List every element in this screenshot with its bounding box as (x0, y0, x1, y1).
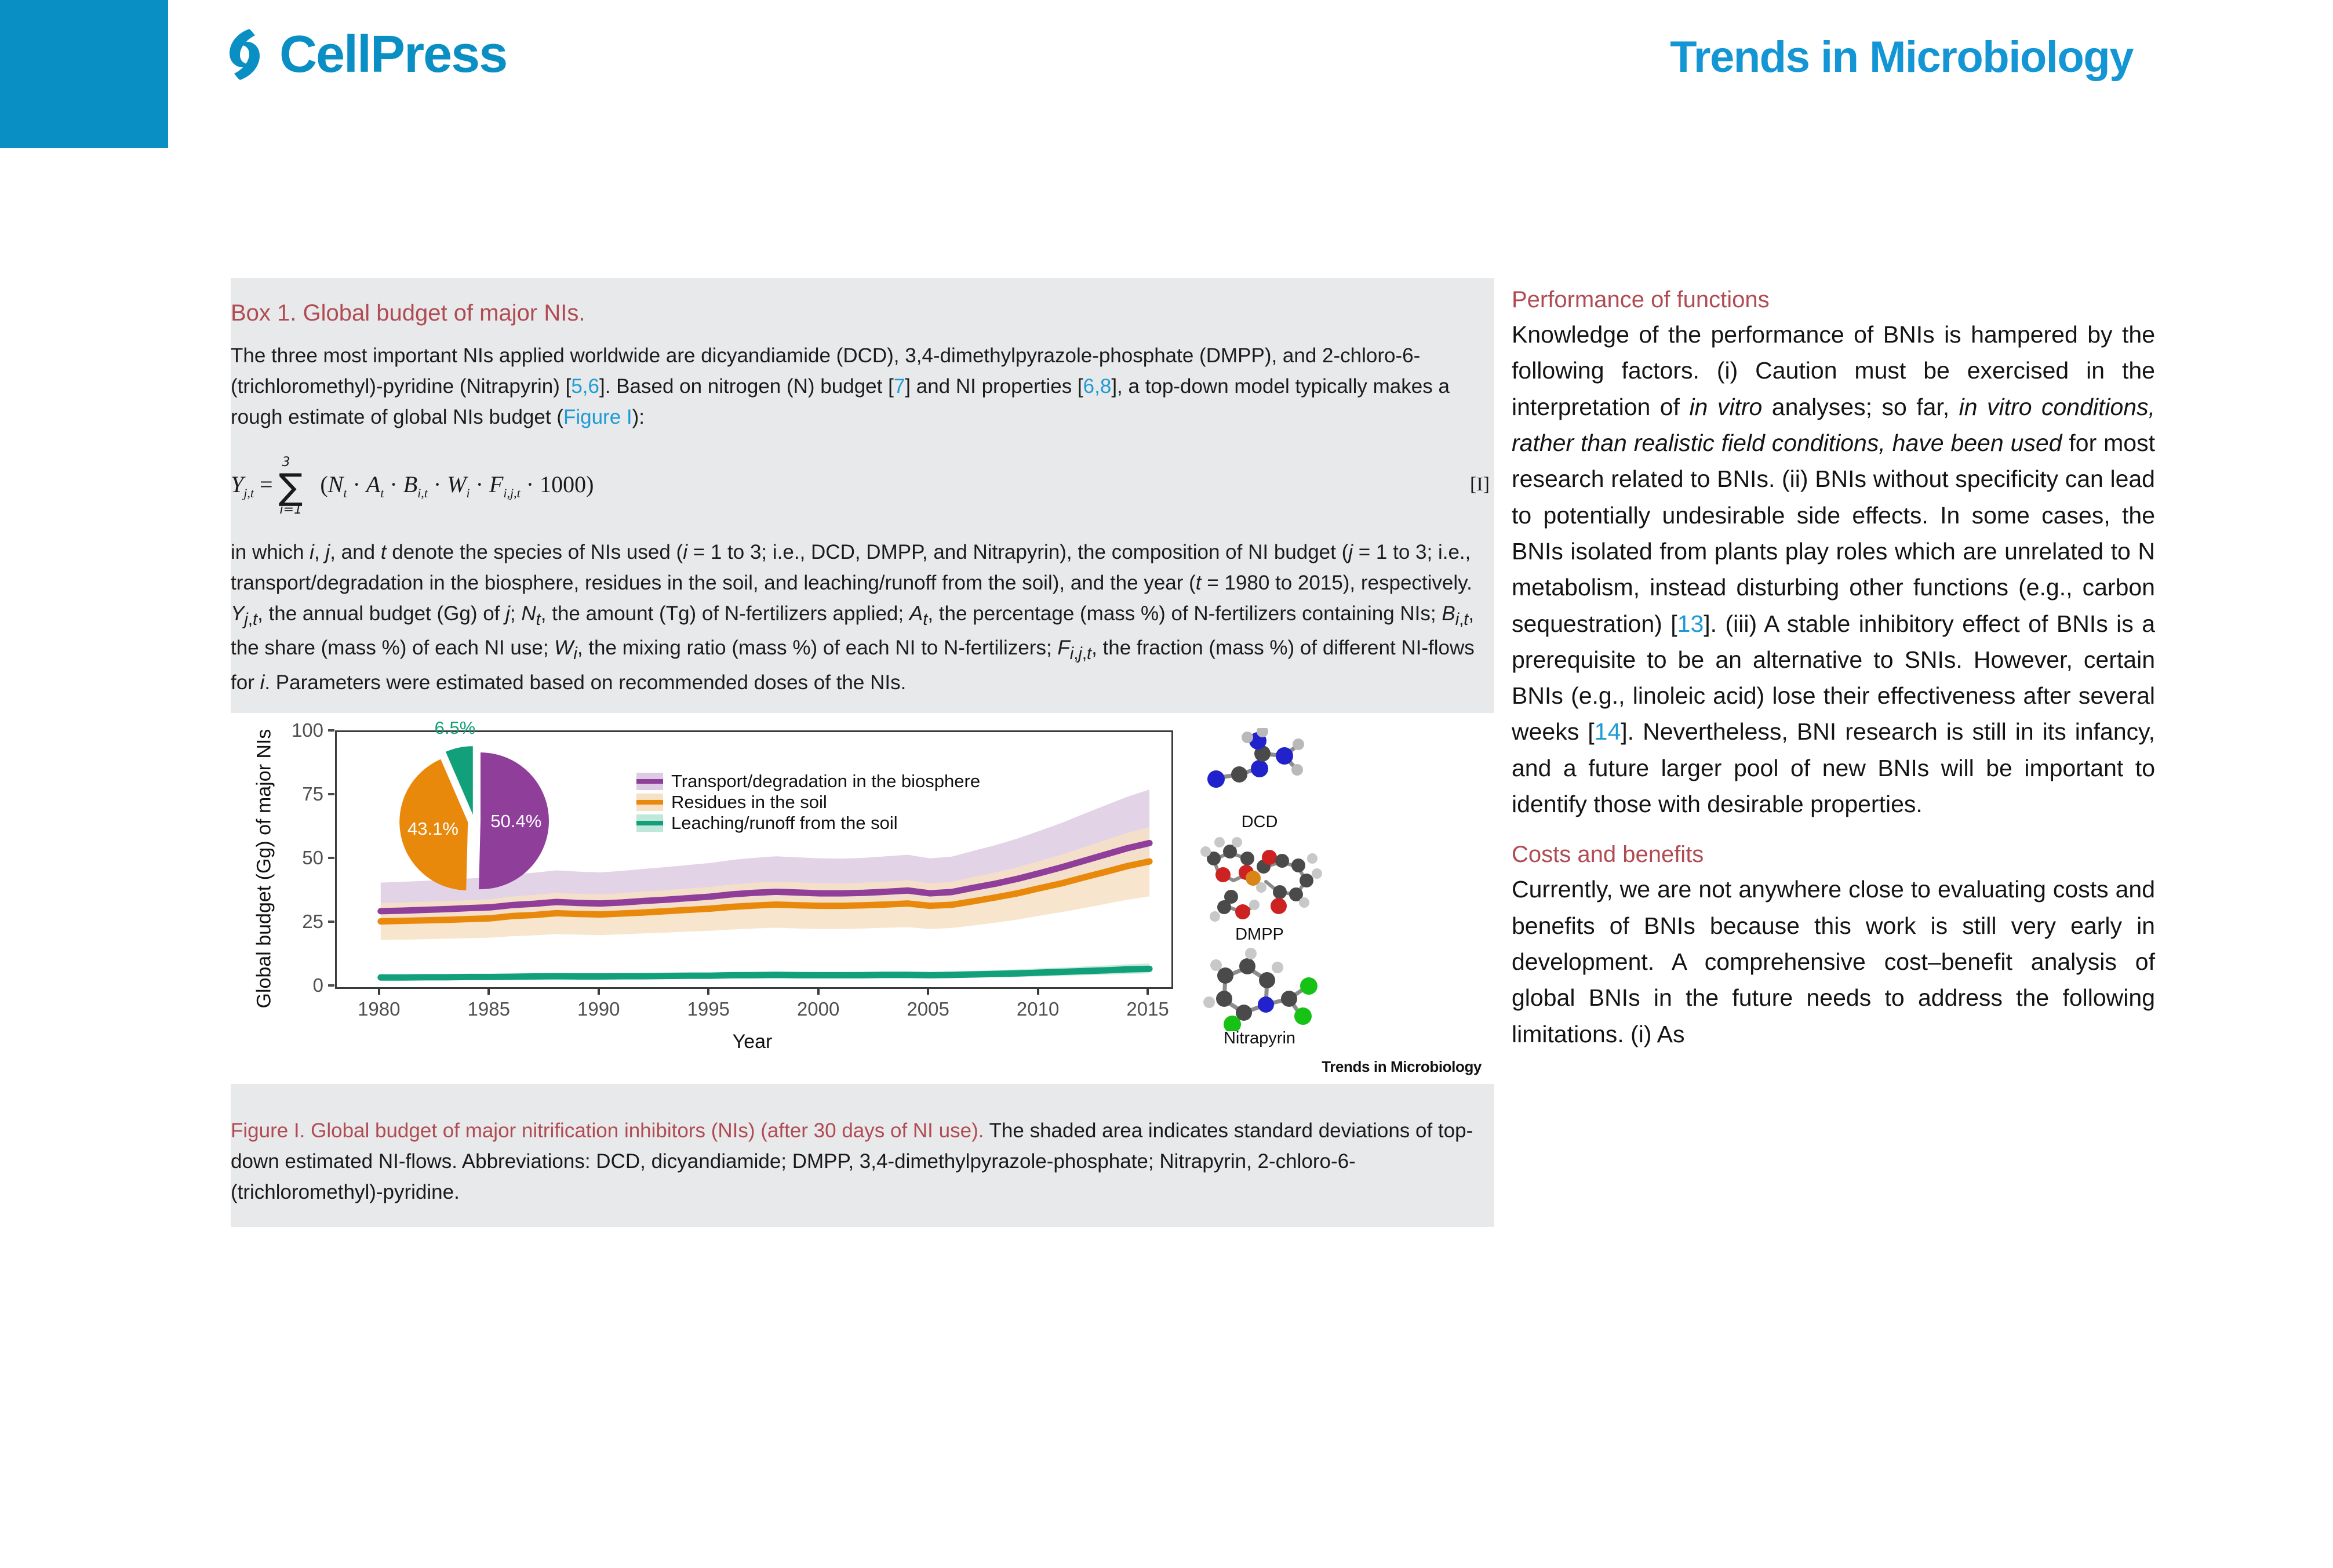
dmpp-molecule-icon (1193, 832, 1326, 927)
ref-13[interactable]: 13 (1677, 610, 1704, 637)
legend-label: Transport/degradation in the biosphere (671, 771, 980, 792)
molecule-label: DMPP (1193, 925, 1326, 944)
x-tick-mark (817, 987, 820, 995)
legend-item[interactable]: Transport/degradation in the biosphere (636, 771, 980, 792)
y-tick-label: 100 (260, 719, 323, 741)
legend-swatch (636, 794, 663, 811)
perf-italic-1: in vitro (1689, 394, 1762, 420)
section-title-costs: Costs and benefits (1512, 842, 2155, 868)
cellpress-logo[interactable]: CellPress (220, 28, 507, 81)
x-tick-label: 2010 (995, 998, 1082, 1020)
nitrapyrin-molecule-icon (1193, 944, 1326, 1031)
y-tick-label: 25 (260, 911, 323, 933)
cellpress-wordmark: CellPress (279, 28, 507, 81)
y-tick-label: 75 (260, 783, 323, 805)
molecule-nitrapyrin: Nitrapyrin (1193, 944, 1326, 1048)
legend-line (636, 821, 663, 825)
chart-legend: Transport/degradation in the biosphereRe… (636, 771, 980, 834)
molecule-gallery: DCD (1193, 728, 1326, 1048)
pie-slice-label: 50.4% (490, 811, 541, 832)
legend-label: Residues in the soil (671, 792, 827, 813)
legend-label: Leaching/runoff from the soil (671, 813, 898, 834)
x-tick-label: 1980 (336, 998, 423, 1020)
pie-slice-label: 6.5% (435, 718, 476, 738)
ref-14[interactable]: 14 (1595, 718, 1621, 745)
figure-credit: Trends in Microbiology (1322, 1058, 1482, 1076)
x-tick-label: 1995 (665, 998, 752, 1020)
equation-1: Yj,t = ∑3i=1 (Nt · At · Bi,t · Wi · Fi,j… (231, 465, 594, 508)
box-column: Box 1. Global budget of major NIs. The t… (231, 278, 1494, 1227)
legend-line (636, 779, 663, 784)
link-figure-i[interactable]: Figure I (563, 406, 632, 428)
legend-item[interactable]: Residues in the soil (636, 792, 980, 813)
section-title-performance: Performance of functions (1512, 287, 2155, 313)
x-tick-label: 1990 (555, 998, 642, 1020)
legend-item[interactable]: Leaching/runoff from the soil (636, 813, 980, 834)
x-tick-label: 2005 (885, 998, 971, 1020)
y-tick-label: 50 (260, 847, 323, 869)
y-tick-mark (328, 921, 334, 923)
x-tick-label: 1985 (445, 998, 532, 1020)
y-tick-mark (328, 793, 334, 795)
x-tick-label: 2015 (1104, 998, 1191, 1020)
molecule-label: Nitrapyrin (1193, 1029, 1326, 1048)
perf-c: for most research related to BNIs. (ii) … (1512, 430, 2155, 637)
x-tick-label: 2000 (775, 998, 862, 1020)
cellpress-swirl-icon (220, 28, 269, 81)
box1-title: Box 1. Global budget of major NIs. (231, 300, 1490, 326)
x-tick-mark (707, 987, 709, 995)
equation-row: Yj,t = ∑3i=1 (Nt · At · Bi,t · Wi · Fi,j… (231, 465, 1490, 508)
brand-color-bar (0, 0, 168, 148)
x-tick-mark (927, 987, 929, 995)
box1-paragraph-2: in which i, j, and t denote the species … (231, 537, 1490, 698)
x-axis-label: Year (335, 1031, 1170, 1053)
ref-5-6[interactable]: 5,6 (571, 375, 599, 398)
y-tick-label: 0 (260, 974, 323, 996)
paragraph-performance: Knowledge of the performance of BNIs is … (1512, 316, 2155, 822)
caption-lead: Figure I. Global budget of major nitrifi… (231, 1119, 984, 1142)
legend-swatch (636, 773, 663, 790)
pie-inset: 50.4%43.1%6.5% (387, 734, 561, 908)
figure-caption: Figure I. Global budget of major nitrifi… (231, 1084, 1494, 1228)
x-tick-mark (1037, 987, 1039, 995)
figure-i-panel: Global budget (Gg) of major NIs 02550751… (231, 713, 1494, 1084)
box1-paragraph-1: The three most important NIs applied wor… (231, 340, 1490, 433)
p1-e: ): (632, 406, 645, 428)
x-tick-mark (598, 987, 600, 995)
figure-canvas: Global budget (Gg) of major NIs 02550751… (231, 713, 1494, 1084)
equation-number: [I] (1470, 465, 1490, 496)
molecule-dcd: DCD (1193, 728, 1326, 832)
x-tick-mark (378, 987, 380, 995)
box1-panel: Box 1. Global budget of major NIs. The t… (231, 278, 1494, 1227)
paragraph-costs: Currently, we are not anywhere close to … (1512, 871, 2155, 1052)
y-axis-label-wrap: Global budget (Gg) of major NIs (235, 730, 265, 1014)
pie-slice-label: 43.1% (407, 818, 458, 839)
legend-line (636, 800, 663, 805)
dcd-molecule-icon (1193, 728, 1326, 815)
legend-swatch (636, 814, 663, 832)
y-axis-label: Global budget (Gg) of major NIs (253, 741, 276, 1008)
y-tick-mark (328, 984, 334, 987)
y-tick-mark (328, 729, 334, 732)
journal-title: Trends in Microbiology (1670, 32, 2133, 82)
p1-c: ] and NI properties [ (905, 375, 1083, 398)
x-tick-mark (1147, 987, 1149, 995)
right-column: Performance of functions Knowledge of th… (1512, 287, 2155, 1052)
perf-b: analyses; so far, (1762, 394, 1959, 420)
p1-b: ]. Based on nitrogen (N) budget [ (599, 375, 894, 398)
y-tick-mark (328, 857, 334, 859)
x-tick-mark (487, 987, 490, 995)
ref-7[interactable]: 7 (894, 375, 905, 398)
ref-6-8[interactable]: 6,8 (1083, 375, 1112, 398)
molecule-dmpp: DMPP (1193, 832, 1326, 944)
molecule-label: DCD (1193, 813, 1326, 832)
